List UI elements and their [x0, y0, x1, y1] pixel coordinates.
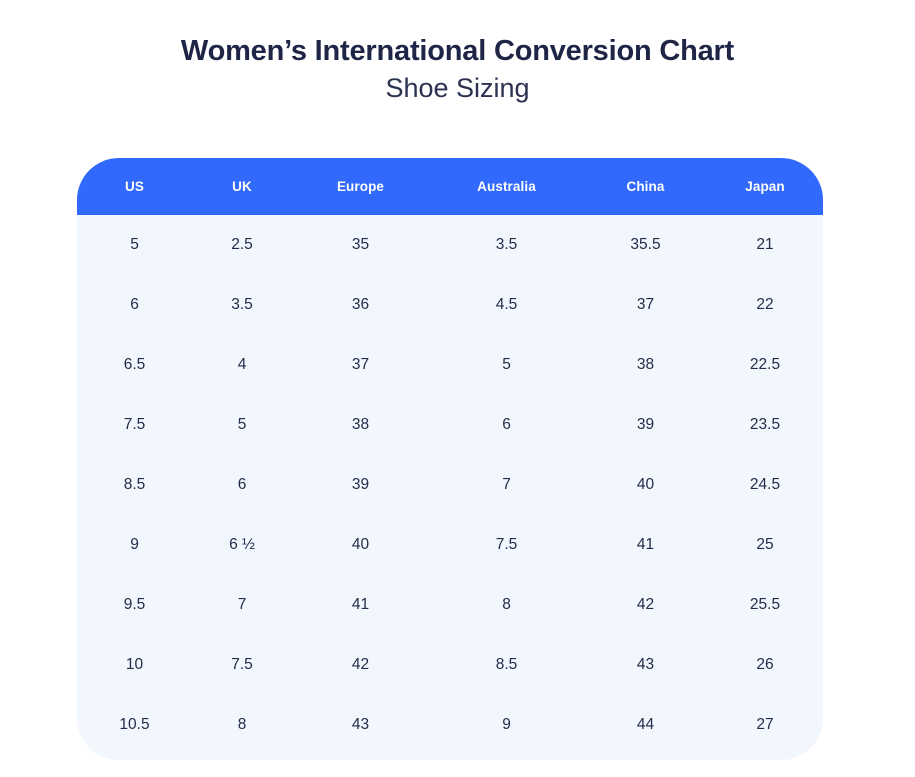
- column-header-us: US: [77, 158, 192, 215]
- cell-uk: 8: [192, 695, 292, 755]
- cell-australia: 7.5: [429, 515, 584, 575]
- cell-japan: 23.5: [707, 395, 823, 455]
- cell-us: 6: [77, 275, 192, 335]
- cell-europe: 37: [292, 335, 429, 395]
- cell-us: 6.5: [77, 335, 192, 395]
- cell-australia: 7: [429, 455, 584, 515]
- cell-uk: 2.5: [192, 215, 292, 275]
- cell-australia: 8.5: [429, 635, 584, 695]
- conversion-chart-page: Women’s International Conversion Chart S…: [0, 0, 915, 777]
- cell-us: 9.5: [77, 575, 192, 635]
- cell-japan: 22.5: [707, 335, 823, 395]
- cell-japan: 24.5: [707, 455, 823, 515]
- cell-china: 38: [584, 335, 707, 395]
- size-conversion-table-card: US UK Europe Australia China Japan 5 2.5…: [77, 158, 823, 760]
- cell-australia: 5: [429, 335, 584, 395]
- table-row: 6.5 4 37 5 38 22.5: [77, 335, 823, 395]
- cell-japan: 22: [707, 275, 823, 335]
- cell-europe: 38: [292, 395, 429, 455]
- cell-australia: 9: [429, 695, 584, 755]
- table-row: 7.5 5 38 6 39 23.5: [77, 395, 823, 455]
- cell-uk: 6: [192, 455, 292, 515]
- cell-uk: 6 ½: [192, 515, 292, 575]
- cell-us: 10.5: [77, 695, 192, 755]
- cell-uk: 3.5: [192, 275, 292, 335]
- cell-japan: 25.5: [707, 575, 823, 635]
- cell-australia: 8: [429, 575, 584, 635]
- table-row: 10 7.5 42 8.5 43 26: [77, 635, 823, 695]
- cell-china: 35.5: [584, 215, 707, 275]
- column-header-china: China: [584, 158, 707, 215]
- table-row: 9.5 7 41 8 42 25.5: [77, 575, 823, 635]
- table-row: 6 3.5 36 4.5 37 22: [77, 275, 823, 335]
- cell-europe: 40: [292, 515, 429, 575]
- cell-china: 40: [584, 455, 707, 515]
- cell-japan: 27: [707, 695, 823, 755]
- cell-us: 8.5: [77, 455, 192, 515]
- column-header-australia: Australia: [429, 158, 584, 215]
- cell-uk: 5: [192, 395, 292, 455]
- cell-japan: 25: [707, 515, 823, 575]
- cell-europe: 43: [292, 695, 429, 755]
- column-header-europe: Europe: [292, 158, 429, 215]
- cell-uk: 4: [192, 335, 292, 395]
- page-title: Women’s International Conversion Chart: [0, 34, 915, 68]
- cell-europe: 42: [292, 635, 429, 695]
- table-row: 9 6 ½ 40 7.5 41 25: [77, 515, 823, 575]
- table-header: US UK Europe Australia China Japan: [77, 158, 823, 215]
- table-row: 8.5 6 39 7 40 24.5: [77, 455, 823, 515]
- cell-china: 37: [584, 275, 707, 335]
- table-row: 5 2.5 35 3.5 35.5 21: [77, 215, 823, 275]
- cell-australia: 3.5: [429, 215, 584, 275]
- cell-china: 42: [584, 575, 707, 635]
- cell-china: 44: [584, 695, 707, 755]
- cell-japan: 21: [707, 215, 823, 275]
- cell-europe: 36: [292, 275, 429, 335]
- cell-us: 10: [77, 635, 192, 695]
- cell-us: 9: [77, 515, 192, 575]
- page-subtitle: Shoe Sizing: [0, 72, 915, 104]
- cell-china: 43: [584, 635, 707, 695]
- cell-uk: 7.5: [192, 635, 292, 695]
- cell-europe: 35: [292, 215, 429, 275]
- cell-europe: 39: [292, 455, 429, 515]
- cell-australia: 6: [429, 395, 584, 455]
- table-body: 5 2.5 35 3.5 35.5 21 6 3.5 36 4.5 37 22 …: [77, 215, 823, 755]
- column-header-japan: Japan: [707, 158, 823, 215]
- cell-australia: 4.5: [429, 275, 584, 335]
- cell-europe: 41: [292, 575, 429, 635]
- cell-china: 41: [584, 515, 707, 575]
- cell-japan: 26: [707, 635, 823, 695]
- column-header-uk: UK: [192, 158, 292, 215]
- heading-block: Women’s International Conversion Chart S…: [0, 34, 915, 105]
- cell-us: 5: [77, 215, 192, 275]
- size-conversion-table: US UK Europe Australia China Japan 5 2.5…: [77, 158, 823, 755]
- cell-uk: 7: [192, 575, 292, 635]
- cell-us: 7.5: [77, 395, 192, 455]
- cell-china: 39: [584, 395, 707, 455]
- table-row: 10.5 8 43 9 44 27: [77, 695, 823, 755]
- table-header-row: US UK Europe Australia China Japan: [77, 158, 823, 215]
